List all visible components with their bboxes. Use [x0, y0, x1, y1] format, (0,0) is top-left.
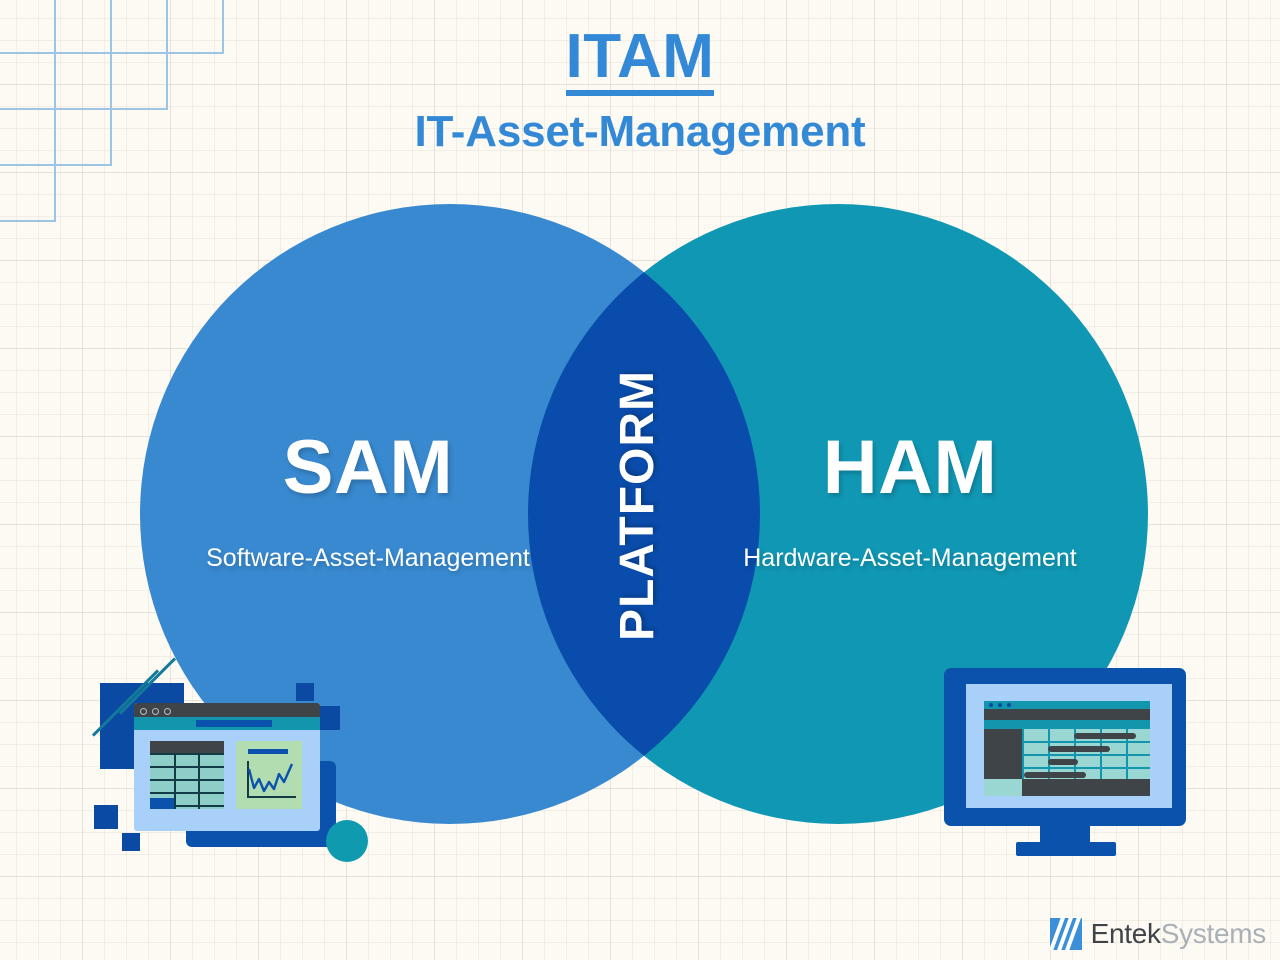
browser-window-graphic: [134, 703, 320, 831]
task-bar: [1024, 772, 1086, 778]
task-bar: [1074, 733, 1136, 739]
window-dot-icon: [140, 708, 147, 715]
window-dot-icon: [164, 708, 171, 715]
table-gridline: [150, 753, 224, 755]
page-subtitle: IT-Asset-Management: [0, 108, 1280, 156]
venn-description-sam: Software-Asset-Management: [178, 540, 558, 578]
venn-label-sam: SAM Software-Asset-Management: [178, 430, 558, 578]
table-gridline: [150, 779, 224, 781]
app-menubar: [984, 709, 1150, 720]
deco-block: [122, 833, 140, 851]
table-highlight-cell: [150, 798, 174, 809]
monitor-app-graphic: [984, 701, 1150, 796]
line-chart-graphic: [236, 741, 302, 809]
venn-description-ham: Hardware-Asset-Management: [720, 540, 1100, 578]
window-dot-icon: [1007, 703, 1011, 707]
grid-line: [1022, 729, 1024, 779]
address-bar-graphic: [196, 720, 272, 727]
window-dot-icon: [989, 703, 993, 707]
table-header-graphic: [150, 741, 224, 753]
venn-acronym-sam: SAM: [178, 430, 558, 506]
platform-text: PLATFORM: [611, 369, 666, 640]
task-bar: [1048, 746, 1110, 752]
brand-name-secondary: Systems: [1161, 918, 1266, 949]
window-titlebar: [134, 703, 320, 717]
app-sidebar: [984, 729, 1022, 779]
header: ITAM IT-Asset-Management: [0, 24, 1280, 156]
brand-name: EntekSystems: [1091, 918, 1266, 950]
venn-label-platform: PLATFORM: [528, 355, 748, 655]
infographic-canvas: ITAM IT-Asset-Management SAM Software-As…: [0, 0, 1280, 960]
deco-circle: [326, 820, 368, 862]
table-gridline: [150, 792, 224, 794]
monitor-stand-neck: [1040, 822, 1090, 844]
brand-name-primary: Entek: [1091, 918, 1161, 949]
app-titlebar: [984, 701, 1150, 709]
deco-block: [296, 683, 314, 701]
app-footer: [1022, 779, 1150, 796]
task-bar: [1048, 759, 1078, 765]
table-gridline: [150, 766, 224, 768]
table-gridline: [198, 753, 200, 809]
brand-logo: EntekSystems: [1050, 918, 1266, 950]
app-toolbar: [984, 720, 1150, 729]
hardware-monitor-illustration: [940, 668, 1190, 868]
window-dot-icon: [998, 703, 1002, 707]
venn-label-ham: HAM Hardware-Asset-Management: [720, 430, 1100, 578]
chart-svg: [236, 741, 302, 809]
window-dot-icon: [152, 708, 159, 715]
data-table-graphic: [150, 741, 224, 809]
entek-slashes-icon: [1050, 918, 1082, 950]
venn-acronym-ham: HAM: [720, 430, 1100, 506]
table-gridline: [174, 753, 176, 809]
page-title: ITAM: [566, 24, 715, 96]
deco-block: [94, 805, 118, 829]
software-dashboard-illustration: [88, 655, 378, 880]
monitor-stand-base: [1016, 842, 1116, 856]
